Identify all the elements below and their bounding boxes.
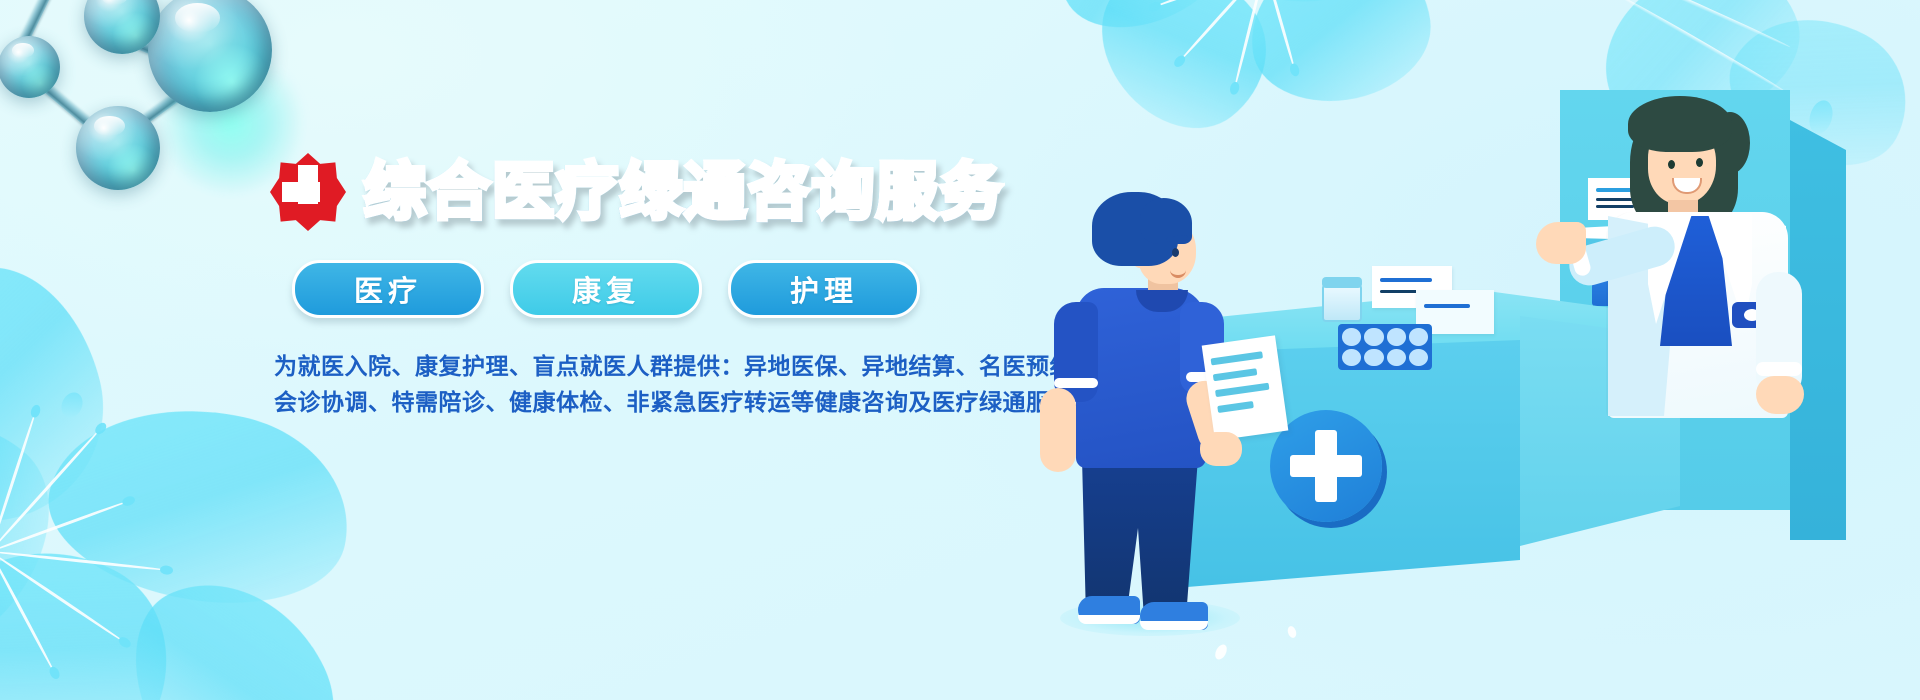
pharmacist-hand [1536, 222, 1586, 264]
medical-service-banner: 综合医疗绿通咨询服务 医疗 康复 护理 为就医入院、康复护理、盲点就医人群提供：… [0, 0, 1920, 700]
patient-cuff-stripe [1054, 378, 1098, 388]
prescription-paper [1202, 335, 1289, 440]
pharmacist-eye [1696, 158, 1703, 167]
service-tag-list: 医疗 康复 护理 [292, 260, 1030, 318]
patient-eye [1172, 248, 1179, 257]
medicine-jar [1322, 284, 1362, 322]
service-tag-nursing[interactable]: 护理 [728, 260, 920, 318]
pharmacist-cuff [1756, 362, 1802, 376]
patient-hand [1200, 432, 1242, 466]
patient-shoe [1078, 596, 1140, 624]
service-tag-rehabilitation[interactable]: 康复 [510, 260, 702, 318]
pharmacy-counter-scene [1020, 40, 1920, 700]
patient-arm [1040, 388, 1076, 472]
page-title: 综合医疗绿通咨询服务 [364, 161, 1004, 223]
description-line-2: 会诊协调、特需陪诊、健康体检、非紧急医疗转运等健康咨询及医疗绿通服务。 [274, 386, 1030, 422]
title-row: 综合医疗绿通咨询服务 [270, 150, 1030, 234]
pill-blister-pack [1338, 324, 1432, 370]
banner-description: 为就医入院、康复护理、盲点就医人群提供：异地医保、异地结算、名医预约 会诊协调、… [274, 350, 1030, 421]
pharmacist-eye [1668, 160, 1675, 169]
patient-legs [1082, 458, 1198, 618]
pharmacist-fringe [1628, 96, 1732, 152]
pharmacist-eyebrow [1692, 146, 1709, 150]
molecule-structure-icon [0, 0, 310, 220]
pharmacist-hand [1756, 376, 1804, 414]
sparkle-dot [1213, 643, 1229, 662]
red-cross-badge-icon [270, 153, 346, 231]
pharmacist-eyebrow [1664, 148, 1681, 152]
banner-content: 综合医疗绿通咨询服务 医疗 康复 护理 为就医入院、康复护理、盲点就医人群提供：… [270, 150, 1030, 421]
service-tag-medical[interactable]: 医疗 [292, 260, 484, 318]
patient-shoe [1140, 602, 1208, 630]
sparkle-dot [1286, 625, 1297, 639]
description-line-1: 为就医入院、康复护理、盲点就医人群提供：异地医保、异地结算、名医预约 [274, 350, 1030, 386]
